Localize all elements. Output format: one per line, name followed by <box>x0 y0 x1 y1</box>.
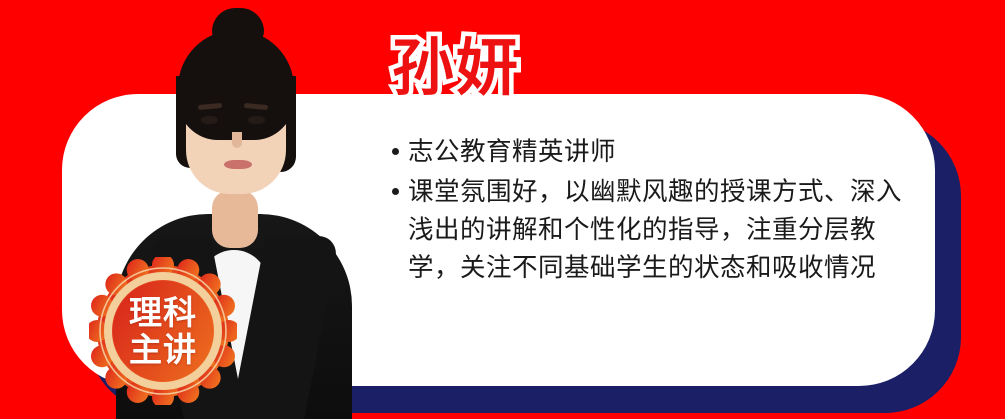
teacher-name: 孙妍 <box>392 38 520 100</box>
list-item: 课堂氛围好，以幽默风趣的授课方式、深入浅出的讲解和个性化的指导，注重分层教学，关… <box>392 173 912 287</box>
portrait-eye-left <box>201 116 218 124</box>
portrait-nose <box>232 132 242 148</box>
portrait-hairline <box>190 62 282 96</box>
poster-root: 孙妍 志公教育精英讲师 课堂氛围好，以幽默风趣的授课方式、深入浅出的讲解和个性化… <box>0 0 1005 419</box>
badge-line-2: 主讲 <box>129 331 197 368</box>
bio-text: 课堂氛围好，以幽默风趣的授课方式、深入浅出的讲解和个性化的指导，注重分层教学，关… <box>408 173 912 287</box>
portrait-eye-right <box>248 116 265 124</box>
badge-label-group: 理科 主讲 <box>89 257 237 405</box>
list-item: 志公教育精英讲师 <box>392 133 912 171</box>
teacher-bio-list: 志公教育精英讲师 课堂氛围好，以幽默风趣的授课方式、深入浅出的讲解和个性化的指导… <box>392 133 912 289</box>
portrait-mouth <box>224 160 252 169</box>
badge-line-1: 理科 <box>129 294 197 331</box>
bio-text: 志公教育精英讲师 <box>408 133 912 171</box>
portrait-hair-bun <box>212 8 264 44</box>
bullet-dot-icon <box>392 148 399 155</box>
bullet-dot-icon <box>392 188 399 195</box>
subject-badge: 理科 主讲 <box>89 257 237 405</box>
portrait-neck <box>212 190 258 248</box>
